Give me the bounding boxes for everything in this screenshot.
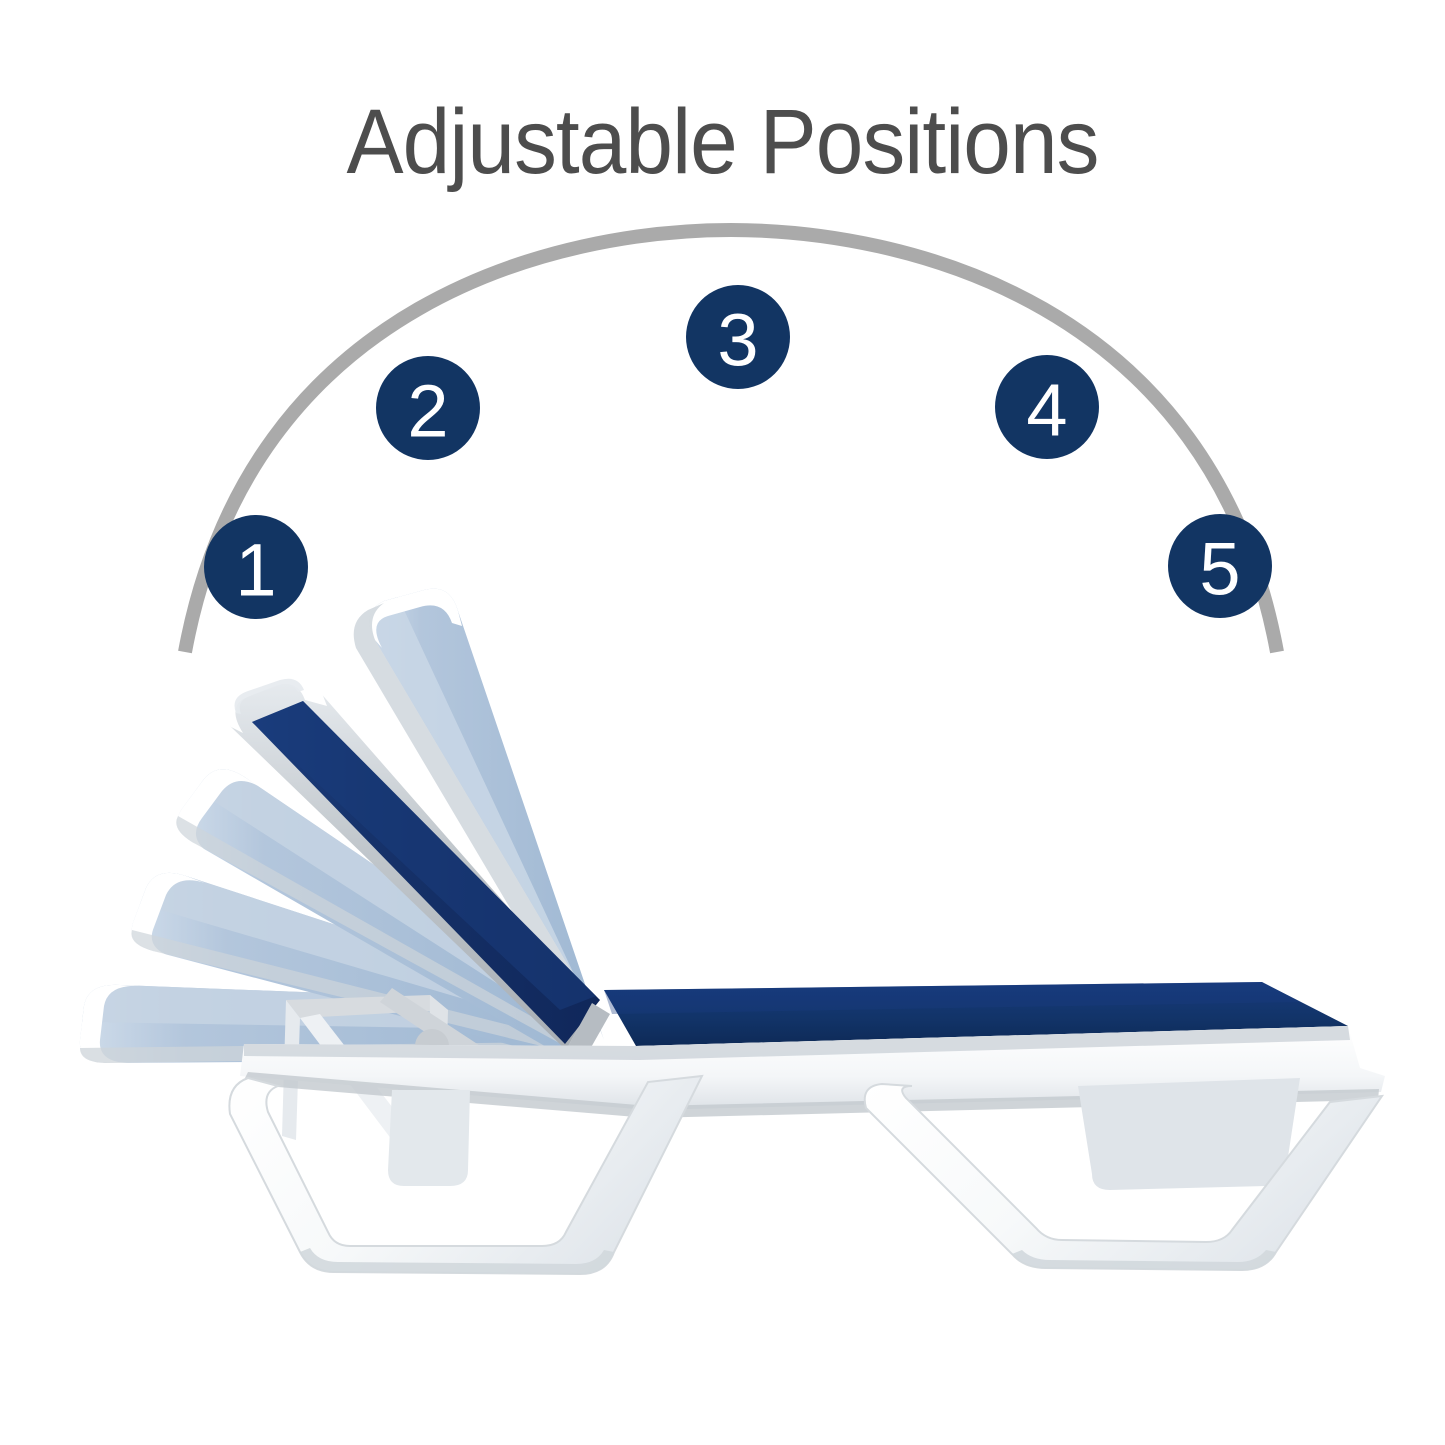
front-leg-far — [1078, 1078, 1300, 1190]
chaise-lounger-illustration — [0, 0, 1445, 1445]
rear-leg-far — [388, 1090, 470, 1186]
infographic-canvas: Adjustable Positions 1 2 3 4 — [0, 0, 1445, 1445]
product-illustration: 1 2 3 4 5 — [0, 0, 1445, 1445]
